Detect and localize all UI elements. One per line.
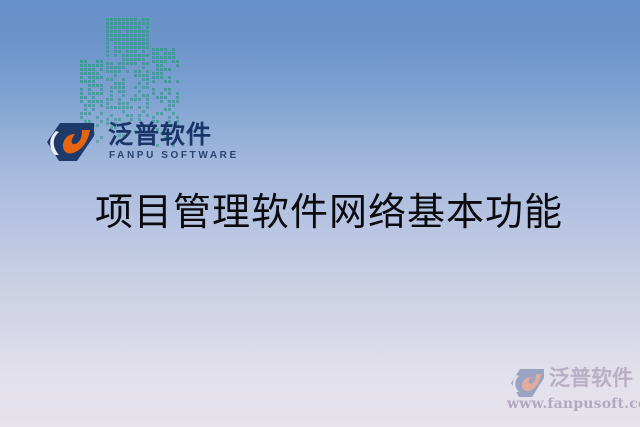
skyline-pixel [130,62,133,65]
skyline-pixel [80,92,83,95]
skyline-pixel [126,58,129,61]
skyline-pixel [168,68,171,71]
skyline-pixel [138,30,141,33]
skyline-pixel [138,46,141,49]
skyline-pixel [126,50,129,53]
skyline-pixel [110,26,113,29]
skyline-pixel [172,100,175,103]
skyline-pixel [118,34,121,37]
skyline-pixel [134,98,137,101]
skyline-pixel [114,30,117,33]
skyline-pixel [88,100,91,103]
skyline-pixel [146,102,149,105]
skyline-pixel [146,78,149,81]
skyline-pixel [126,26,129,29]
skyline-pixel [80,88,83,91]
skyline-pixel [122,94,125,97]
skyline-pixel [106,22,109,25]
skyline-pixel [114,50,117,53]
skyline-pixel [122,66,125,69]
skyline-pixel [122,38,125,41]
skyline-pixel [152,76,155,79]
skyline-pixel [142,62,145,65]
skyline-pixel [92,72,95,75]
skyline-pixel [146,42,149,45]
skyline-pixel [138,34,141,37]
skyline-pixel [122,18,125,21]
fanpu-logo-company-name-en: FANPU SOFTWARE [109,150,239,161]
skyline-pixel [92,100,95,103]
skyline-pixel [130,42,133,45]
skyline-pixel [100,112,103,115]
skyline-pixel [164,60,167,63]
skyline-pixel [160,112,163,115]
skyline-pixel [110,94,113,97]
skyline-pixel [146,62,149,65]
skyline-pixel [88,104,91,107]
skyline-pixel [142,30,145,33]
skyline-pixel [126,38,129,41]
skyline-pixel [122,46,125,49]
skyline-pixel [156,56,159,59]
skyline-pixel [106,30,109,33]
skyline-pixel [142,18,145,21]
skyline-pixel [110,86,113,89]
skyline-pixel [106,54,109,57]
skyline-pixel [80,96,83,99]
skyline-pixel [130,98,133,101]
skyline-pixel [156,72,159,75]
skyline-pixel [96,76,99,79]
skyline-pixel [130,26,133,29]
skyline-pixel [142,34,145,37]
skyline-pixel [122,90,125,93]
skyline-pixel [126,18,129,21]
skyline-pixel [176,60,179,63]
skyline-pixel [88,80,91,83]
skyline-pixel [110,38,113,41]
skyline-pixel [160,92,163,95]
skyline-pixel [152,56,155,59]
skyline-pixel [118,26,121,29]
skyline-pixel [168,56,171,59]
skyline-pixel [84,68,87,71]
skyline-pixel [168,104,171,107]
skyline-pixel [146,86,149,89]
skyline-pixel [152,80,155,83]
skyline-pixel [172,48,175,51]
fanpu-watermark-url: www.fanpusoft.com [507,396,640,412]
skyline-pixel [172,56,175,59]
skyline-pixel [160,64,163,67]
skyline-pixel [122,58,125,61]
skyline-pixel [88,92,91,95]
skyline-pixel [126,42,129,45]
skyline-pixel [134,18,137,21]
skyline-pixel [84,112,87,115]
skyline-pixel [156,96,159,99]
skyline-pixel [106,46,109,49]
skyline-pixel [130,58,133,61]
skyline-pixel [156,112,159,115]
skyline-pixel [172,60,175,63]
skyline-pixel [118,18,121,21]
skyline-pixel [130,38,133,41]
skyline-pixel [172,104,175,107]
skyline-pixel [164,88,167,91]
skyline-pixel [134,62,137,65]
skyline-pixel [110,90,113,93]
skyline-pixel [160,100,163,103]
skyline-pixel [106,50,109,53]
skyline-pixel [122,86,125,89]
skyline-pixel [126,30,129,33]
skyline-pixel [100,68,103,71]
slide-canvas: 泛普软件 FANPU SOFTWARE 项目管理软件网络基本功能 泛普软件 ww… [0,0,640,427]
skyline-pixel [106,106,109,109]
skyline-pixel [164,108,167,111]
skyline-pixel [138,98,141,101]
skyline-pixel [142,86,145,89]
fanpu-watermark-mark [510,368,550,398]
skyline-pixel [138,58,141,61]
skyline-pixel [88,68,91,71]
skyline-pixel [146,70,149,73]
skyline-pixel [106,18,109,21]
skyline-pixel [106,78,109,81]
skyline-pixel [146,30,149,33]
skyline-pixel [168,88,171,91]
skyline-pixel [118,46,121,49]
skyline-pixel [122,62,125,65]
skyline-pixel [110,34,113,37]
skyline-pixel [92,108,95,111]
skyline-pixel [176,92,179,95]
skyline-pixel [134,70,137,73]
skyline-pixel [88,72,91,75]
skyline-pixel [142,54,145,57]
skyline-pixel [146,114,149,117]
skyline-pixel [142,66,145,69]
skyline-pixel [92,104,95,107]
skyline-pixel [88,64,91,67]
skyline-pixel [134,86,137,89]
skyline-pixel [156,76,159,79]
skyline-pixel [152,116,155,119]
skyline-pixel [164,56,167,59]
skyline-pixel [126,54,129,57]
skyline-pixel [134,42,137,45]
skyline-pixel [122,22,125,25]
skyline-pixel [114,66,117,69]
fanpu-watermark: 泛普软件 www.fanpusoft.com [505,364,637,420]
skyline-pixel [88,76,91,79]
skyline-pixel [152,92,155,95]
skyline-pixel [130,34,133,37]
skyline-pixel [126,102,129,105]
skyline-pixel [114,70,117,73]
skyline-pixel [134,26,137,29]
skyline-pixel [118,98,121,101]
skyline-pixel [106,38,109,41]
skyline-pixel [84,80,87,83]
skyline-pixel [134,22,137,25]
skyline-pixel [142,94,145,97]
skyline-pixel [156,52,159,55]
skyline-pixel [126,34,129,37]
skyline-pixel [156,68,159,71]
skyline-pixel [96,92,99,95]
skyline-pixel [106,70,109,73]
skyline-pixel [122,102,125,105]
skyline-pixel [114,54,117,57]
skyline-pixel [110,62,113,65]
skyline-pixel [88,84,91,87]
skyline-pixel [106,102,109,105]
skyline-pixel [138,42,141,45]
skyline-pixel [134,46,137,49]
skyline-pixel [134,50,137,53]
skyline-pixel [164,80,167,83]
skyline-pixel [160,72,163,75]
skyline-pixel [92,76,95,79]
skyline-pixel [96,72,99,75]
skyline-pixel [100,100,103,103]
skyline-pixel [84,60,87,63]
skyline-pixel [118,70,121,73]
skyline-pixel [80,60,83,63]
skyline-pixel [146,18,149,21]
skyline-pixel [122,82,125,85]
skyline-pixel [96,60,99,63]
skyline-pixel [146,54,149,57]
skyline-pixel [110,114,113,117]
skyline-pixel [164,96,167,99]
skyline-pixel [142,50,145,53]
skyline-pixel [100,64,103,67]
skyline-pixel [152,52,155,55]
skyline-pixel [118,86,121,89]
skyline-pixel [122,78,125,81]
skyline-pixel [130,46,133,49]
skyline-pixel [114,46,117,49]
skyline-pixel [152,88,155,91]
skyline-pixel [100,92,103,95]
skyline-pixel [168,108,171,111]
skyline-pixel [152,48,155,51]
skyline-pixel [80,80,83,83]
fanpu-watermark-company-name: 泛普软件 [549,366,633,392]
skyline-pixel [80,76,83,79]
skyline-pixel [160,68,163,71]
skyline-pixel [114,42,117,45]
skyline-pixel [176,96,179,99]
skyline-pixel [172,52,175,55]
pixel-skyline-decoration [76,18,180,128]
skyline-pixel [142,38,145,41]
skyline-pixel [88,112,91,115]
skyline-pixel [146,74,149,77]
skyline-pixel [168,52,171,55]
skyline-pixel [118,102,121,105]
skyline-pixel [168,80,171,83]
skyline-pixel [176,64,179,67]
skyline-pixel [114,26,117,29]
skyline-pixel [156,48,159,51]
skyline-pixel [176,80,179,83]
skyline-pixel [130,18,133,21]
skyline-pixel [106,62,109,65]
skyline-pixel [100,104,103,107]
skyline-pixel [106,42,109,45]
skyline-pixel [114,38,117,41]
skyline-pixel [80,72,83,75]
skyline-pixel [106,98,109,101]
skyline-pixel [80,112,83,115]
skyline-pixel [118,66,121,69]
skyline-pixel [84,108,87,111]
skyline-pixel [138,22,141,25]
skyline-pixel [114,82,117,85]
skyline-pixel [110,30,113,33]
skyline-pixel [88,88,91,91]
skyline-pixel [126,22,129,25]
skyline-pixel [92,92,95,95]
skyline-pixel [118,22,121,25]
skyline-pixel [146,26,149,29]
skyline-pixel [176,100,179,103]
skyline-pixel [106,66,109,69]
skyline-pixel [164,68,167,71]
skyline-pixel [168,92,171,95]
skyline-pixel [106,26,109,29]
skyline-pixel [80,116,83,119]
skyline-pixel [168,116,171,119]
skyline-pixel [100,76,103,79]
skyline-pixel [118,42,121,45]
skyline-pixel [122,106,125,109]
skyline-pixel [126,62,129,65]
skyline-pixel [126,46,129,49]
skyline-pixel [96,100,99,103]
skyline-pixel [92,84,95,87]
skyline-pixel [146,46,149,49]
skyline-pixel [130,30,133,33]
skyline-pixel [138,70,141,73]
skyline-pixel [110,98,113,101]
skyline-pixel [118,106,121,109]
skyline-pixel [164,52,167,55]
skyline-pixel [176,116,179,119]
skyline-pixel [138,74,141,77]
skyline-pixel [114,18,117,21]
skyline-pixel [122,42,125,45]
skyline-pixel [146,22,149,25]
skyline-pixel [160,48,163,51]
skyline-pixel [96,64,99,67]
skyline-pixel [126,106,129,109]
skyline-pixel [160,60,163,63]
skyline-pixel [110,22,113,25]
skyline-pixel [134,38,137,41]
skyline-pixel [100,88,103,91]
skyline-pixel [160,76,163,79]
skyline-pixel [80,68,83,71]
skyline-pixel [172,112,175,115]
skyline-pixel [130,114,133,117]
skyline-pixel [146,94,149,97]
skyline-pixel [118,90,121,93]
skyline-pixel [118,62,121,65]
skyline-pixel [126,70,129,73]
skyline-pixel [146,38,149,41]
skyline-pixel [156,64,159,67]
skyline-pixel [110,18,113,21]
skyline-pixel [168,100,171,103]
skyline-pixel [122,34,125,37]
skyline-pixel [142,42,145,45]
skyline-pixel [146,98,149,101]
skyline-pixel [84,72,87,75]
skyline-pixel [134,30,137,33]
skyline-pixel [118,38,121,41]
skyline-pixel [130,50,133,53]
skyline-pixel [118,50,121,53]
skyline-pixel [114,74,117,77]
skyline-pixel [146,34,149,37]
skyline-pixel [110,106,113,109]
skyline-pixel [142,110,145,113]
skyline-pixel [96,116,99,119]
slide-title: 项目管理软件网络基本功能 [95,188,563,236]
skyline-pixel [134,54,137,57]
fanpu-logo: 泛普软件 FANPU SOFTWARE [46,120,236,168]
skyline-pixel [110,70,113,73]
skyline-pixel [134,74,137,77]
skyline-pixel [126,114,129,117]
skyline-pixel [80,64,83,67]
skyline-pixel [100,84,103,87]
skyline-pixel [164,48,167,51]
skyline-pixel [114,106,117,109]
skyline-pixel [152,60,155,63]
skyline-pixel [114,86,117,89]
skyline-pixel [142,74,145,77]
skyline-pixel [110,66,113,69]
skyline-pixel [138,90,141,93]
skyline-pixel [160,96,163,99]
skyline-pixel [134,34,137,37]
skyline-pixel [122,110,125,113]
skyline-pixel [130,54,133,57]
fanpu-logo-mark [46,122,102,162]
skyline-pixel [92,64,95,67]
skyline-pixel [134,94,137,97]
skyline-pixel [106,34,109,37]
skyline-pixel [146,82,149,85]
skyline-pixel [142,78,145,81]
skyline-pixel [84,96,87,99]
skyline-pixel [114,22,117,25]
skyline-pixel [110,78,113,81]
skyline-pixel [92,68,95,71]
skyline-pixel [118,30,121,33]
skyline-pixel [160,56,163,59]
skyline-pixel [138,54,141,57]
skyline-pixel [138,82,141,85]
skyline-pixel [100,60,103,63]
skyline-pixel [138,114,141,117]
